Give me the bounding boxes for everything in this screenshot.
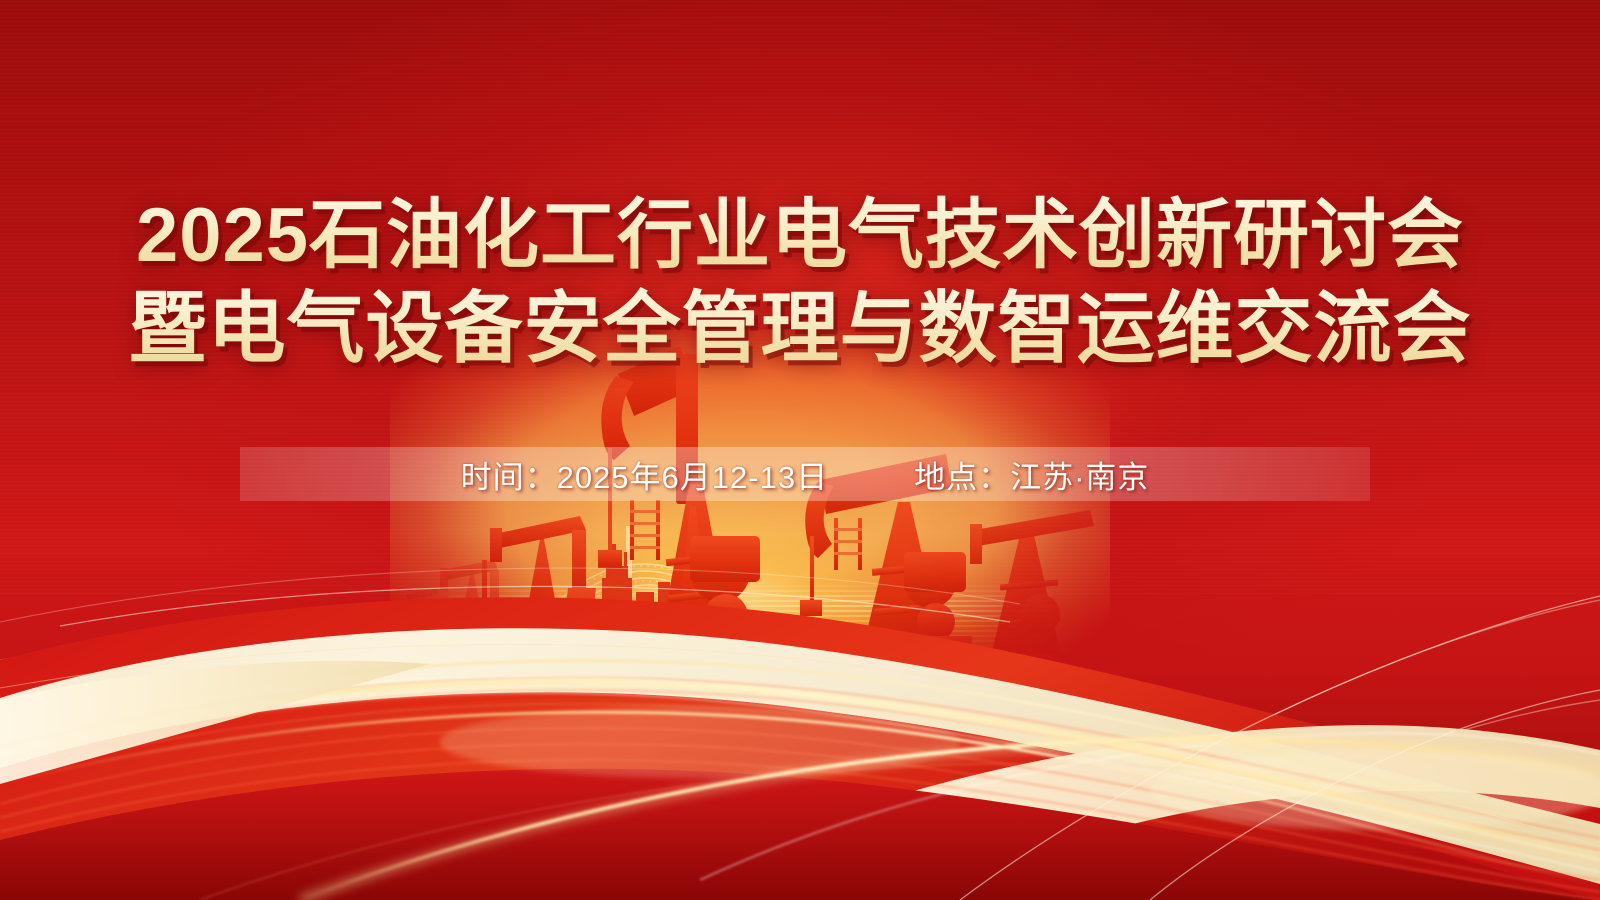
wave-red-mid <box>0 698 1600 900</box>
title-line-1: 2025石油化工行业电气技术创新研讨会 <box>0 190 1600 282</box>
wave-cream-left-wedge <box>0 661 430 784</box>
oil-field-sunset-photo <box>390 330 1110 680</box>
pumpjack-small-left <box>440 560 506 636</box>
event-poster: 2025石油化工行业电气技术创新研讨会 暨电气设备安全管理与数智运维交流会 时间… <box>0 0 1600 900</box>
light-streak-second <box>0 712 1600 886</box>
event-time: 时间：2025年6月12-13日 <box>461 452 829 497</box>
pumpjack-distant-far-left <box>406 588 440 631</box>
event-place: 地点：江苏·南京 <box>914 452 1149 497</box>
light-streak-main <box>0 681 1600 856</box>
wave-cream-secondary <box>640 725 1600 900</box>
wave-red-foreground <box>0 769 1600 900</box>
event-info-bar: 时间：2025年6月12-13日 地点：江苏·南京 <box>240 447 1370 501</box>
oil-field-silhouettes <box>390 330 1110 680</box>
title-line-2: 暨电气设备安全管理与数智运维交流会 <box>0 282 1600 374</box>
light-streak-rising <box>300 739 1600 900</box>
poster-title: 2025石油化工行业电气技术创新研讨会 暨电气设备安全管理与数智运维交流会 <box>0 190 1600 374</box>
pumpjack-right-edge <box>970 510 1094 666</box>
light-streak-upper <box>60 661 1600 834</box>
